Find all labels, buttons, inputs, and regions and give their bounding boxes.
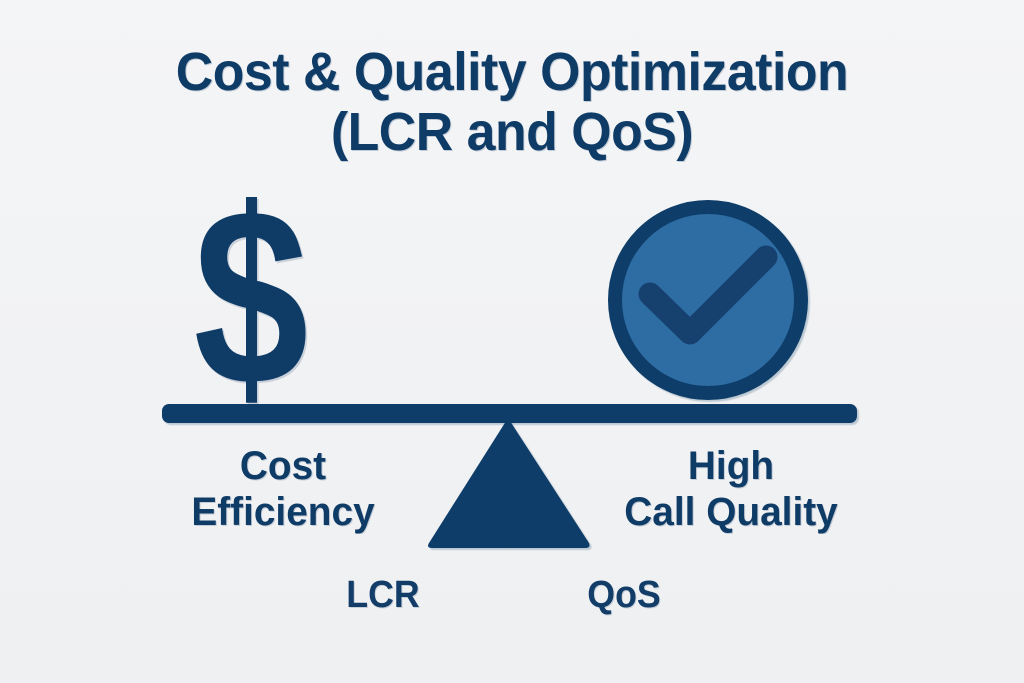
infographic-canvas: Cost & Quality Optimization (LCR and QoS… [0,0,1024,683]
check-circle-icon [615,207,801,393]
title-line-2: (LCR and QoS) [20,102,1003,162]
left-pan-label-line-2: Efficiency [147,489,419,535]
right-pan-label-line-1: High [595,443,867,489]
right-pan-label-line-2: Call Quality [595,489,867,535]
dollar-sign-icon: $ [190,190,313,405]
fulcrum-triangle [428,418,590,548]
left-pan-label: Cost Efficiency [147,443,419,535]
page-title: Cost & Quality Optimization (LCR and QoS… [0,42,1024,162]
right-pan-label: High Call Quality [595,443,867,535]
sub-label-lcr: LCR [308,573,458,617]
left-pan-label-line-1: Cost [147,443,419,489]
sub-label-qos: QoS [549,573,699,617]
title-line-1: Cost & Quality Optimization [20,42,1003,102]
